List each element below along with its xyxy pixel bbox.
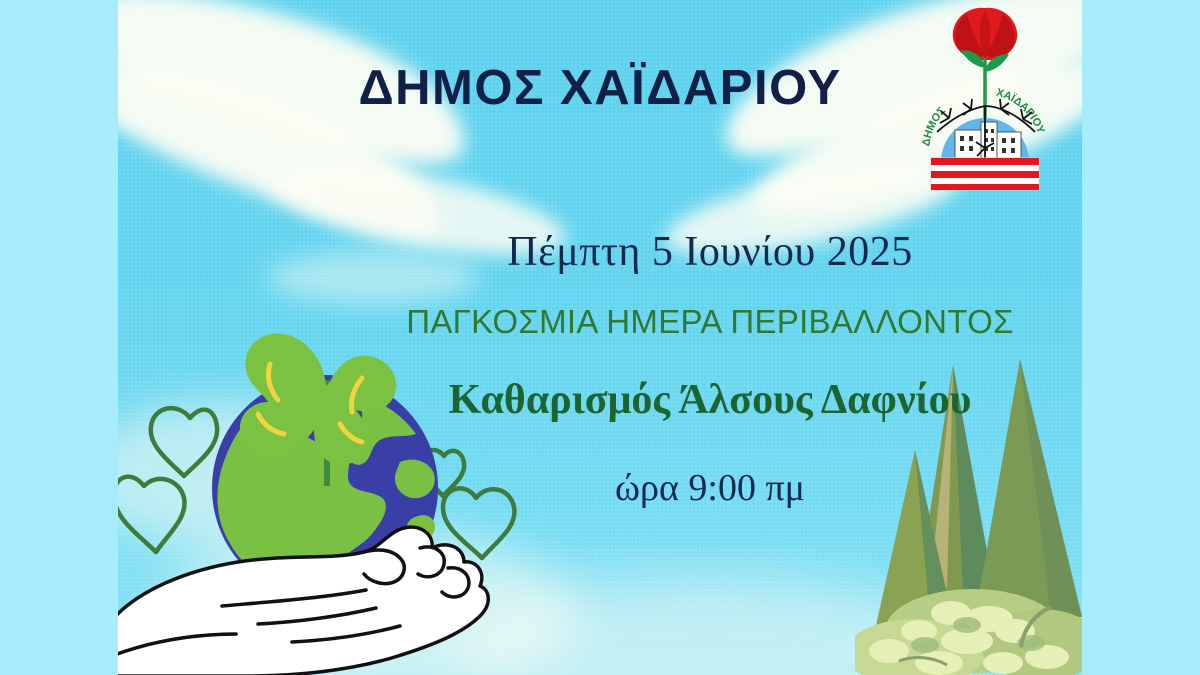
event-time: ώρα 9:00 πμ xyxy=(0,466,1200,510)
event-occasion: ΠΑΓΚΟΣΜΙΑ ΗΜΕΡΑ ΠΕΡΙΒΑΛΛΟΝΤΟΣ xyxy=(0,303,1200,341)
page-title: ΔΗΜΟΣ ΧΑΪΔΑΡΙΟΥ xyxy=(0,60,1200,116)
event-poster: ΔΗΜΟΣ ΧΑΪΔΑΡΙΟΥ xyxy=(0,0,1200,675)
event-name: Καθαρισμός Άλσους Δαφνίου xyxy=(0,376,1200,424)
event-date: Πέμπτη 5 Ιουνίου 2025 xyxy=(0,228,1200,276)
logo-stripes xyxy=(931,158,1039,190)
